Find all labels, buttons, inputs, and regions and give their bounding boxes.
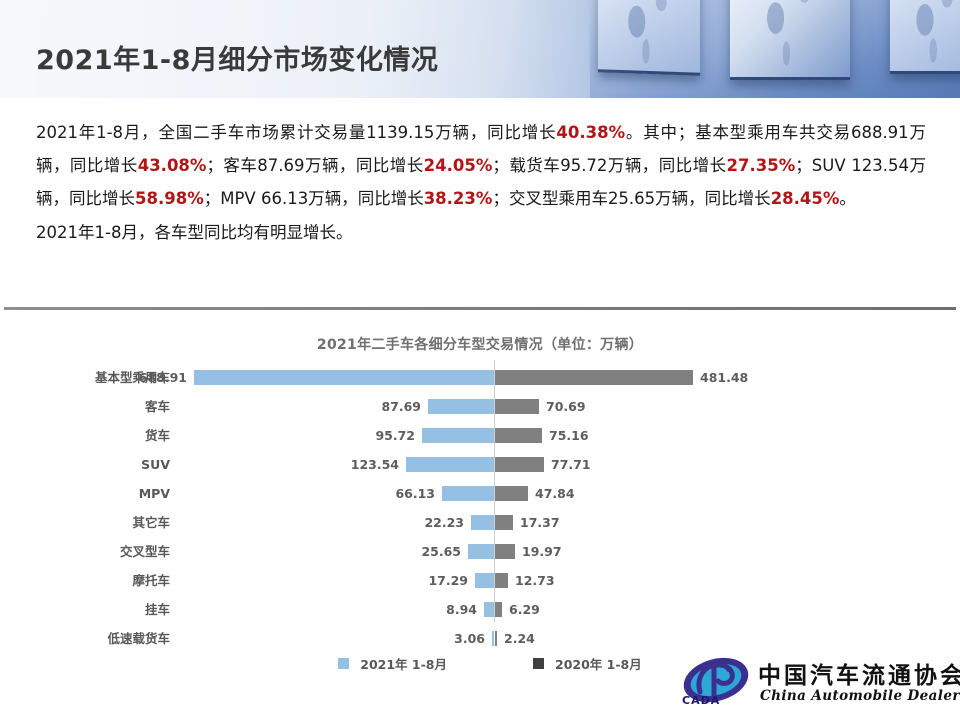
chart-value-2020: 19.97 <box>522 537 562 566</box>
summary-text-run: ；MPV 66.13万辆，同比增长 <box>204 189 424 208</box>
summary-text-run: ；载货车95.72万辆，同比增长 <box>492 156 726 175</box>
chart-value-2021: 8.94 <box>446 595 477 624</box>
chart-bar-2021 <box>422 428 494 443</box>
growth-rate-value: 58.98% <box>135 189 204 208</box>
chart-value-2020: 2.24 <box>504 624 535 653</box>
chart-row: 交叉型车25.6519.97 <box>0 537 960 566</box>
cada-name-en: China Automobile Dealers Association <box>760 688 960 704</box>
cada-name-cn: 中国汽车流通协会 <box>758 656 960 690</box>
chart-value-2020: 47.84 <box>535 479 575 508</box>
chart-value-2021: 123.54 <box>351 450 399 479</box>
legend-swatch-icon <box>338 658 349 669</box>
chart-bar-2020 <box>495 428 542 443</box>
cada-logo: CADA 中国汽车流通协会 China Automobile Dealers A… <box>676 650 952 716</box>
chart-row: 其它车22.2317.37 <box>0 508 960 537</box>
world-map-icon <box>890 0 960 71</box>
legend-item[interactable]: 2020年 1-8月 <box>533 654 642 673</box>
cada-abbreviation: CADA <box>682 694 720 707</box>
chart-value-2021: 688.91 <box>139 363 187 392</box>
chart-row: SUV123.5477.71 <box>0 450 960 479</box>
chart-bar-2021 <box>442 486 494 501</box>
chart-row: 摩托车17.2912.73 <box>0 566 960 595</box>
chart-bar-2020 <box>495 486 528 501</box>
chart-bar-2021 <box>484 602 494 617</box>
chart-bar-2020 <box>495 370 693 385</box>
growth-rate-value: 24.05% <box>424 156 493 175</box>
slide-root: 2021年1-8月细分市场变化情况 2021年1-8月，全国二手车市场累计交易量… <box>0 0 960 720</box>
glass-cube-icon <box>890 0 960 74</box>
growth-rate-value: 28.45% <box>771 189 840 208</box>
chart-value-2020: 6.29 <box>509 595 540 624</box>
chart-bar-2020 <box>495 544 515 559</box>
header-decorative-image <box>590 0 960 98</box>
chart-value-2021: 22.23 <box>424 508 464 537</box>
chart-bar-2021 <box>194 370 494 385</box>
chart-bar-2020 <box>495 457 544 472</box>
chart-row: 客车87.6970.69 <box>0 392 960 421</box>
chart-value-2021: 3.06 <box>454 624 485 653</box>
chart-value-2020: 12.73 <box>515 566 555 595</box>
slide-header: 2021年1-8月细分市场变化情况 <box>0 0 960 98</box>
chart-value-2021: 25.65 <box>421 537 461 566</box>
summary-text-run: ；交叉型乘用车25.65万辆，同比增长 <box>492 189 770 208</box>
growth-rate-value: 38.23% <box>424 189 493 208</box>
chart-bar-2020 <box>495 399 539 414</box>
chart-plot-area: 基本型乘用车688.91481.48客车87.6970.69货车95.7275.… <box>0 360 960 622</box>
legend-label: 2020年 1-8月 <box>555 654 642 673</box>
chart-category-label: MPV <box>20 479 170 508</box>
chart-container: 2021年二手车各细分车型交易情况（单位：万辆） 基本型乘用车688.91481… <box>0 320 960 680</box>
chart-row: MPV66.1347.84 <box>0 479 960 508</box>
chart-bar-2021 <box>406 457 494 472</box>
summary-text-run: ；客车87.69万辆，同比增长 <box>206 156 423 175</box>
chart-bar-2020 <box>495 602 502 617</box>
page-title: 2021年1-8月细分市场变化情况 <box>36 38 438 77</box>
chart-row: 挂车8.946.29 <box>0 595 960 624</box>
legend-item[interactable]: 2021年 1-8月 <box>338 654 447 673</box>
chart-bar-2021 <box>471 515 494 530</box>
chart-value-2020: 70.69 <box>546 392 586 421</box>
chart-category-label: 其它车 <box>20 508 170 537</box>
chart-bar-2021 <box>468 544 494 559</box>
chart-row: 基本型乘用车688.91481.48 <box>0 363 960 392</box>
chart-row: 低速载货车3.062.24 <box>0 624 960 653</box>
chart-value-2021: 17.29 <box>428 566 468 595</box>
chart-bar-2020 <box>495 573 508 588</box>
chart-value-2020: 77.71 <box>551 450 591 479</box>
chart-title: 2021年二手车各细分车型交易情况（单位：万辆） <box>0 334 960 354</box>
chart-category-label: 交叉型车 <box>20 537 170 566</box>
chart-bar-2021 <box>492 631 494 646</box>
summary-text-run: 。 <box>839 189 856 208</box>
legend-swatch-icon <box>533 658 544 669</box>
chart-category-label: SUV <box>20 450 170 479</box>
summary-text-block: 2021年1-8月，全国二手车市场累计交易量1139.15万辆，同比增长40.3… <box>36 116 926 249</box>
growth-rate-value: 43.08% <box>138 156 207 175</box>
chart-bar-2020 <box>495 631 497 646</box>
growth-rate-value: 40.38% <box>556 123 625 142</box>
chart-value-2021: 66.13 <box>395 479 435 508</box>
chart-value-2021: 95.72 <box>375 421 415 450</box>
chart-value-2020: 17.37 <box>520 508 560 537</box>
section-divider <box>4 307 956 310</box>
chart-value-2020: 75.16 <box>549 421 589 450</box>
glass-cube-icon <box>730 0 850 80</box>
chart-category-label: 低速载货车 <box>20 624 170 653</box>
world-map-icon <box>730 0 850 77</box>
chart-value-2020: 481.48 <box>700 363 748 392</box>
chart-category-label: 摩托车 <box>20 566 170 595</box>
chart-value-2021: 87.69 <box>381 392 421 421</box>
chart-category-label: 货车 <box>20 421 170 450</box>
chart-bar-2021 <box>428 399 494 414</box>
summary-paragraph-1: 2021年1-8月，全国二手车市场累计交易量1139.15万辆，同比增长40.3… <box>36 116 926 215</box>
legend-label: 2021年 1-8月 <box>360 654 447 673</box>
chart-category-label: 挂车 <box>20 595 170 624</box>
chart-row: 货车95.7275.16 <box>0 421 960 450</box>
summary-text-run: 2021年1-8月，全国二手车市场累计交易量1139.15万辆，同比增长 <box>36 123 556 142</box>
growth-rate-value: 27.35% <box>727 156 796 175</box>
chart-category-label: 客车 <box>20 392 170 421</box>
chart-bar-2020 <box>495 515 513 530</box>
chart-bar-2021 <box>475 573 494 588</box>
summary-paragraph-2: 2021年1-8月，各车型同比均有明显增长。 <box>36 216 926 249</box>
